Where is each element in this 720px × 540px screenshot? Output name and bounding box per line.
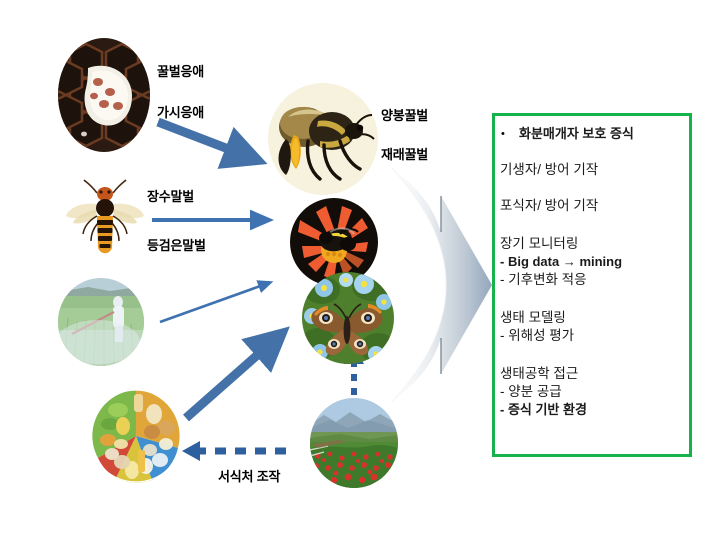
label-managed-honeybee: 양봉꿀벌	[381, 108, 428, 123]
outcome-line-1: 기생자/ 방어 기작	[500, 162, 598, 178]
honeybee-image	[268, 83, 378, 195]
label-giant-hornet: 장수말벌	[147, 189, 194, 204]
pollinators-to-outcomes-arrow	[392, 168, 492, 402]
outcome-line-0: 화분매개자 보호 증식	[519, 126, 634, 142]
outcome-line-8: 생태공학 접근	[500, 366, 578, 382]
label-tropilaelaps-mite: 가시응애	[157, 105, 204, 120]
hornet-image	[62, 176, 148, 260]
poppy-field-image	[310, 398, 398, 488]
mite-larva-image	[58, 38, 150, 152]
pesticide-to-pollinators-arrow	[160, 284, 266, 322]
outcome-line-3: 장기 모니터링	[500, 236, 578, 252]
mite-to-bee-arrow	[158, 122, 244, 155]
outcome-line-7: - 위해성 평가	[500, 328, 574, 344]
label-native-honeybee: 재래꿀벌	[381, 147, 428, 162]
bullet-glyph: •	[501, 126, 505, 142]
diagram-canvas: 꿀벌응애 가시응애 장수말벌 등검은말벌 양봉꿀벌 재래꿀벌 서식처 조작 • …	[0, 0, 720, 540]
label-honeybee-mite: 꿀벌응애	[157, 64, 204, 79]
outcome-line-10: - 증식 기반 환경	[500, 402, 587, 418]
food-to-pollinators-arrow	[186, 343, 271, 418]
pesticide-spraying-image	[58, 278, 144, 366]
outcome-line-6: 생태 모델링	[500, 310, 566, 326]
outcomes-panel: • 화분매개자 보호 증식 기생자/ 방어 기작 포식자/ 방어 기작 장기 모…	[492, 113, 692, 457]
outcome-line-9: - 양분 공급	[500, 384, 562, 400]
butterfly-image	[302, 272, 394, 364]
label-yellow-legged-hornet: 등검은말벌	[147, 238, 206, 253]
food-plate-image	[88, 388, 184, 484]
outcome-line-2: 포식자/ 방어 기작	[500, 198, 598, 214]
poppy-to-food-arrow	[182, 441, 286, 461]
label-habitat-manipulation: 서식처 조작	[218, 469, 280, 484]
outcome-line-5: - 기후변화 적응	[500, 272, 587, 288]
outcome-line-4: - Big data → mining	[500, 254, 622, 270]
bumblebee-flower-image	[290, 198, 378, 286]
